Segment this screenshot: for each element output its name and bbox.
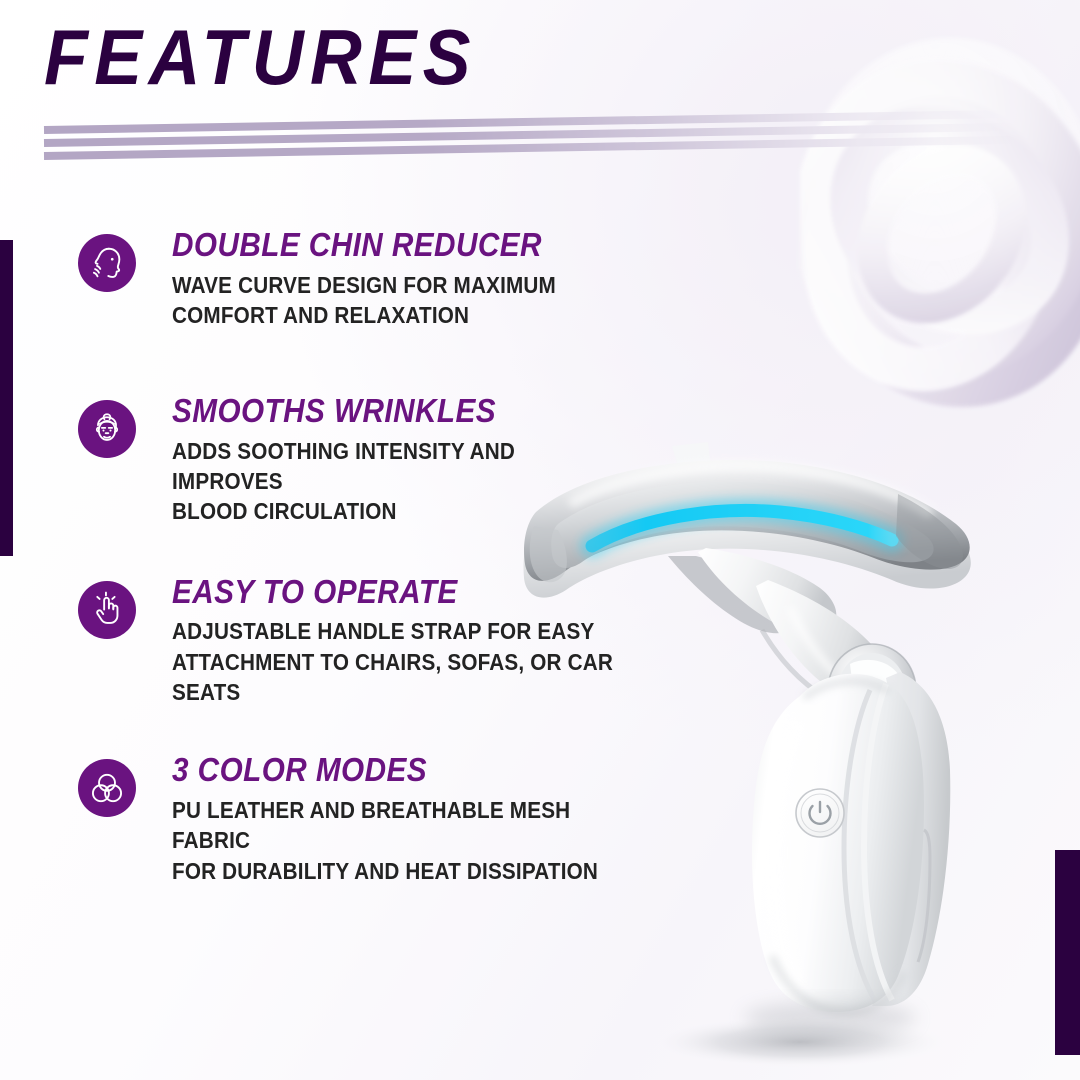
three-circles-venn-icon	[78, 759, 136, 817]
left-accent-bar	[0, 240, 13, 556]
device-handle	[752, 672, 950, 1012]
right-accent-bar	[1055, 850, 1080, 1055]
header: FEATURES	[44, 18, 664, 96]
feature-description: WAVE CURVE DESIGN FOR MAXIMUM COMFORT AN…	[172, 270, 627, 331]
blurred-torus-ornament	[800, 18, 1080, 438]
feature-title: SMOOTHS WRINKLES	[172, 394, 627, 429]
feature-item: DOUBLE CHIN REDUCER WAVE CURVE DESIGN FO…	[78, 228, 678, 348]
wrinkled-face-icon	[78, 400, 136, 458]
power-button[interactable]	[796, 789, 844, 837]
poster-canvas: FEATURES DOUBLE CHIN	[0, 0, 1080, 1080]
neck-and-face-lifting-device	[500, 440, 1020, 1080]
page-title: FEATURES	[44, 18, 614, 96]
title-underline-rules	[44, 126, 1080, 162]
tapping-hand-icon	[78, 581, 136, 639]
curved-treatment-head	[524, 460, 971, 634]
feature-title: DOUBLE CHIN REDUCER	[172, 228, 627, 263]
face-profile-chin-icon	[78, 234, 136, 292]
